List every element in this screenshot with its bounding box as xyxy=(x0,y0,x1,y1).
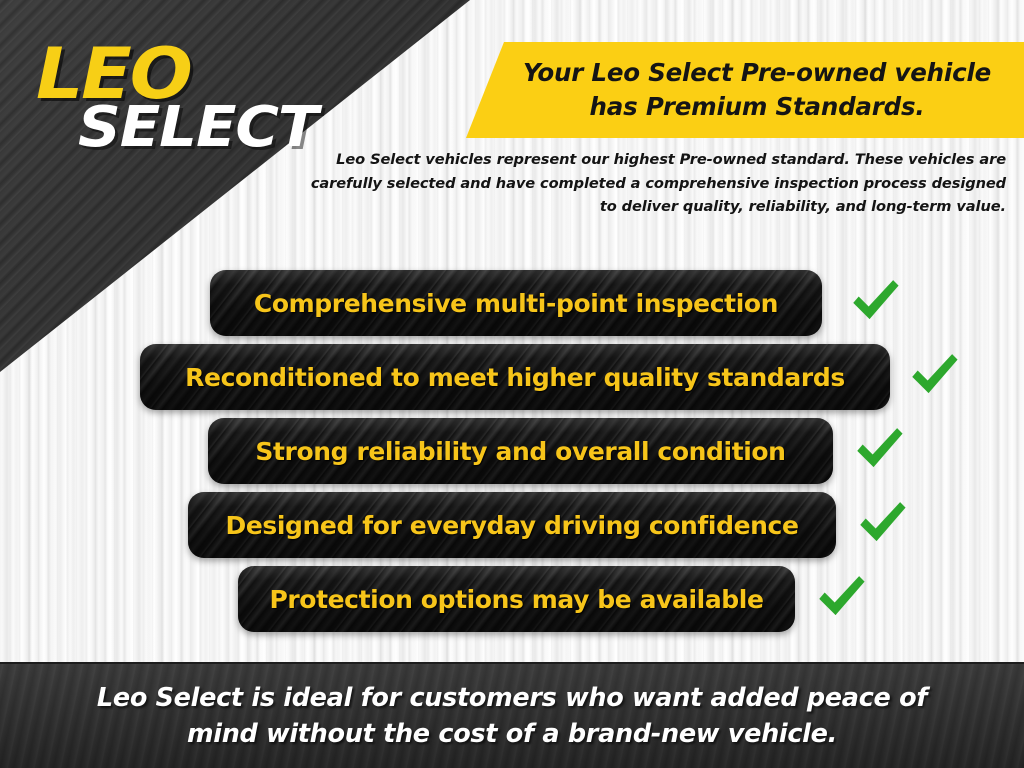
headline-text: Your Leo Select Pre-owned vehicle has Pr… xyxy=(466,56,1024,124)
check-icon xyxy=(850,420,908,478)
leo-select-poster: LEO SELECT Your Leo Select Pre-owned veh… xyxy=(0,0,1024,768)
description-paragraph: Leo Select vehicles represent our highes… xyxy=(306,148,1006,219)
feature-row: Designed for everyday driving confidence xyxy=(0,488,1024,562)
check-icon xyxy=(853,494,911,552)
feature-label: Reconditioned to meet higher quality sta… xyxy=(185,363,845,392)
feature-list: Comprehensive multi-point inspection Rec… xyxy=(0,266,1024,636)
feature-pill[interactable]: Protection options may be available xyxy=(238,566,795,632)
headline-banner: Your Leo Select Pre-owned vehicle has Pr… xyxy=(466,42,1024,138)
logo-word-select: SELECT xyxy=(78,100,351,156)
feature-row: Reconditioned to meet higher quality sta… xyxy=(0,340,1024,414)
leo-select-logo: LEO SELECT xyxy=(36,42,336,156)
footer-banner: Leo Select is ideal for customers who wa… xyxy=(0,662,1024,768)
feature-row: Protection options may be available xyxy=(0,562,1024,636)
feature-pill[interactable]: Comprehensive multi-point inspection xyxy=(210,270,822,336)
feature-pill[interactable]: Strong reliability and overall condition xyxy=(208,418,833,484)
feature-label: Designed for everyday driving confidence xyxy=(225,511,798,540)
footer-text: Leo Select is ideal for customers who wa… xyxy=(62,680,962,752)
feature-pill[interactable]: Designed for everyday driving confidence xyxy=(188,492,836,558)
feature-pill[interactable]: Reconditioned to meet higher quality sta… xyxy=(140,344,890,410)
check-icon xyxy=(905,346,963,404)
check-icon xyxy=(812,568,870,626)
check-icon xyxy=(846,272,904,330)
feature-label: Protection options may be available xyxy=(269,585,763,614)
feature-row: Strong reliability and overall condition xyxy=(0,414,1024,488)
feature-label: Comprehensive multi-point inspection xyxy=(254,289,778,318)
feature-label: Strong reliability and overall condition xyxy=(255,437,785,466)
feature-row: Comprehensive multi-point inspection xyxy=(0,266,1024,340)
